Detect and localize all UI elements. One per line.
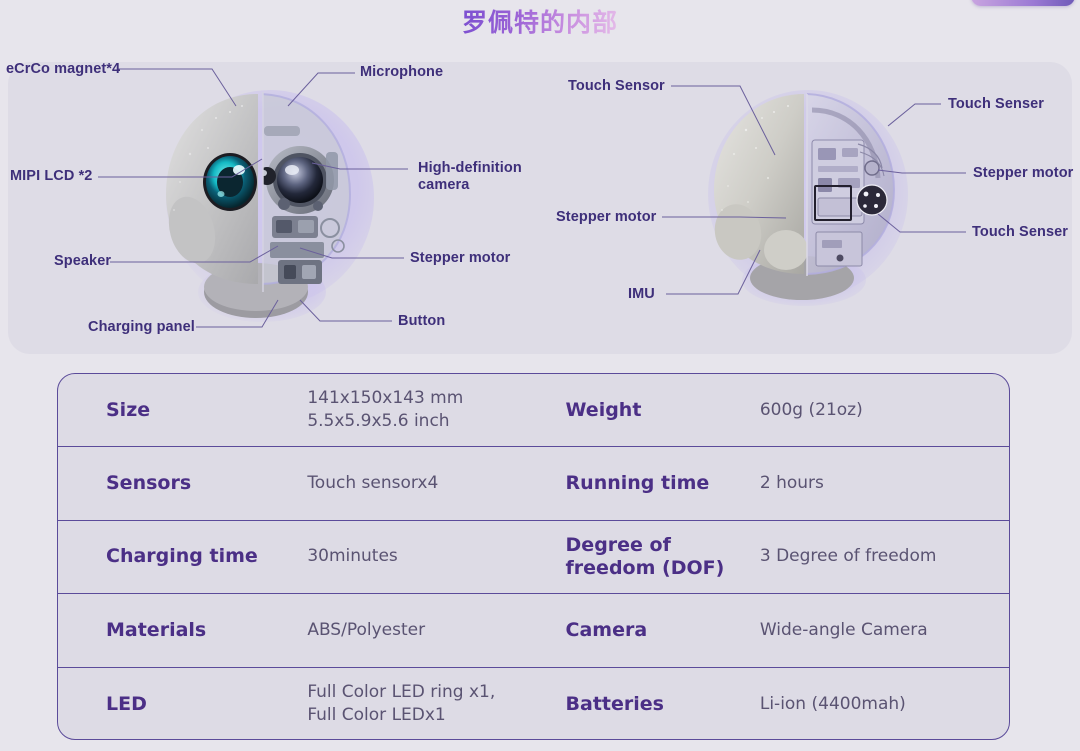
spec-table: Size 141x150x143 mm 5.5x5.9x5.6 inch Wei… bbox=[57, 373, 1010, 740]
top-accent-tab bbox=[971, 0, 1075, 6]
spec-key-charging-time: Charging time bbox=[58, 521, 307, 593]
spec-value-batteries: Li-ion (4400mah) bbox=[760, 668, 1009, 740]
spec-value-materials: ABS/Polyester bbox=[307, 594, 532, 666]
spec-key-batteries: Batteries bbox=[533, 668, 760, 740]
spec-key-camera: Camera bbox=[533, 594, 760, 666]
spec-value-sensors: Touch sensorx4 bbox=[307, 447, 532, 519]
table-row: Size 141x150x143 mm 5.5x5.9x5.6 inch Wei… bbox=[58, 374, 1009, 447]
spec-key-size: Size bbox=[58, 374, 307, 446]
spec-value-weight: 600g (21oz) bbox=[760, 374, 1009, 446]
label-stepper-motor-left: Stepper motor bbox=[556, 209, 656, 226]
robot-front-illustration bbox=[150, 78, 376, 328]
label-touch-senser-top: Touch Senser bbox=[948, 96, 1044, 113]
page-title-wrap: 罗佩特的内部 bbox=[0, 6, 1080, 40]
page-title: 罗佩特的内部 bbox=[462, 6, 618, 40]
label-charging-panel: Charging panel bbox=[88, 319, 195, 336]
label-speaker: Speaker bbox=[54, 253, 111, 270]
robot-rear-illustration bbox=[700, 82, 916, 314]
table-row: LED Full Color LED ring x1, Full Color L… bbox=[58, 668, 1009, 740]
spec-key-sensors: Sensors bbox=[58, 447, 307, 519]
label-imu: IMU bbox=[628, 286, 655, 303]
label-microphone: Microphone bbox=[360, 64, 443, 81]
spec-key-weight: Weight bbox=[533, 374, 760, 446]
spec-key-running-time: Running time bbox=[533, 447, 760, 519]
label-stepper-motor-right: Stepper motor bbox=[973, 165, 1073, 182]
label-ecrco-magnet: eCrCo magnet*4 bbox=[6, 61, 120, 78]
spec-value-dof: 3 Degree of freedom bbox=[760, 521, 1009, 593]
label-hd-camera: High-definition camera bbox=[418, 160, 522, 194]
table-row: Materials ABS/Polyester Camera Wide-angl… bbox=[58, 594, 1009, 667]
label-touch-senser-bottom: Touch Senser bbox=[972, 224, 1068, 241]
table-row: Sensors Touch sensorx4 Running time 2 ho… bbox=[58, 447, 1009, 520]
product-spec-page: 罗佩特的内部 bbox=[0, 0, 1080, 751]
label-stepper-motor: Stepper motor bbox=[410, 250, 510, 267]
spec-key-led: LED bbox=[58, 668, 307, 740]
table-row: Charging time 30minutes Degree of freedo… bbox=[58, 521, 1009, 594]
label-button: Button bbox=[398, 313, 445, 330]
spec-value-led: Full Color LED ring x1, Full Color LEDx1 bbox=[307, 668, 532, 740]
spec-key-materials: Materials bbox=[58, 594, 307, 666]
spec-key-dof: Degree of freedom (DOF) bbox=[533, 521, 760, 593]
spec-value-running-time: 2 hours bbox=[760, 447, 1009, 519]
spec-value-camera: Wide-angle Camera bbox=[760, 594, 1009, 666]
label-mipi-lcd: MIPI LCD *2 bbox=[10, 168, 92, 185]
label-touch-sensor-left: Touch Sensor bbox=[568, 78, 665, 95]
spec-value-charging-time: 30minutes bbox=[307, 521, 532, 593]
spec-value-size: 141x150x143 mm 5.5x5.9x5.6 inch bbox=[307, 374, 532, 446]
